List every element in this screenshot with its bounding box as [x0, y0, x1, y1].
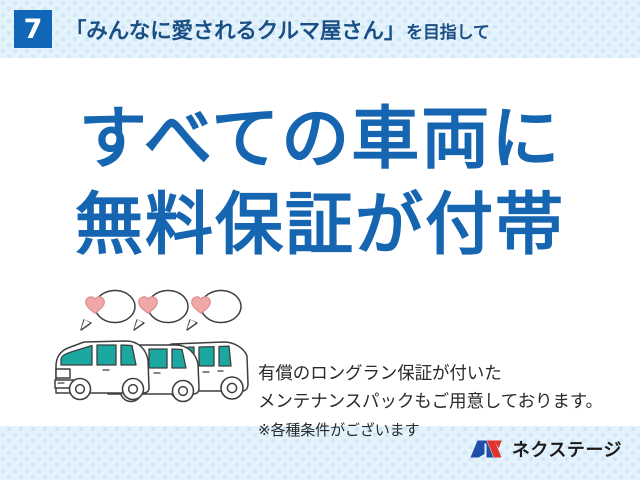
header-title-quoted: 「みんなに愛されるクルマ屋さん」: [65, 14, 405, 45]
header-title: 「みんなに愛されるクルマ屋さん」 を目指して: [65, 14, 490, 45]
warranty-banner: 7 「みんなに愛されるクルマ屋さん」 を目指して すべての車両に 無料保証が付帯: [0, 0, 640, 480]
banner-footer: ネクステージ: [0, 426, 640, 480]
cars-illustration: [48, 288, 258, 406]
nextage-n-mark-icon: [470, 437, 504, 461]
step-number-badge: 7: [14, 10, 52, 48]
heart-bubble-3: [187, 291, 241, 331]
brand-logo: ネクステージ: [470, 436, 622, 462]
body-copy-line-2: メンテナンスパックもご用意しております。: [258, 388, 638, 416]
headline-line-2: 無料保証が付帯: [0, 192, 640, 260]
car-kei-van: [55, 341, 149, 400]
banner-header: 7 「みんなに愛されるクルマ屋さん」 を目指して: [0, 0, 640, 58]
content-card: すべての車両に 無料保証が付帯: [0, 58, 640, 426]
header-title-suffix: を目指して: [406, 18, 490, 43]
brand-name: ネクステージ: [512, 436, 622, 462]
headline-block: すべての車両に 無料保証が付帯: [0, 106, 640, 260]
heart-bubble-2: [134, 291, 188, 331]
heart-bubble-1: [81, 291, 135, 331]
lower-content-row: 有償のロングラン保証が付いた メンテナンスパックもご用意しております。 ※各種条…: [0, 288, 640, 418]
headline-line-1: すべての車両に: [0, 106, 640, 174]
body-copy-line-1: 有償のロングラン保証が付いた: [258, 360, 638, 388]
cars-illustration-svg: [48, 288, 258, 406]
